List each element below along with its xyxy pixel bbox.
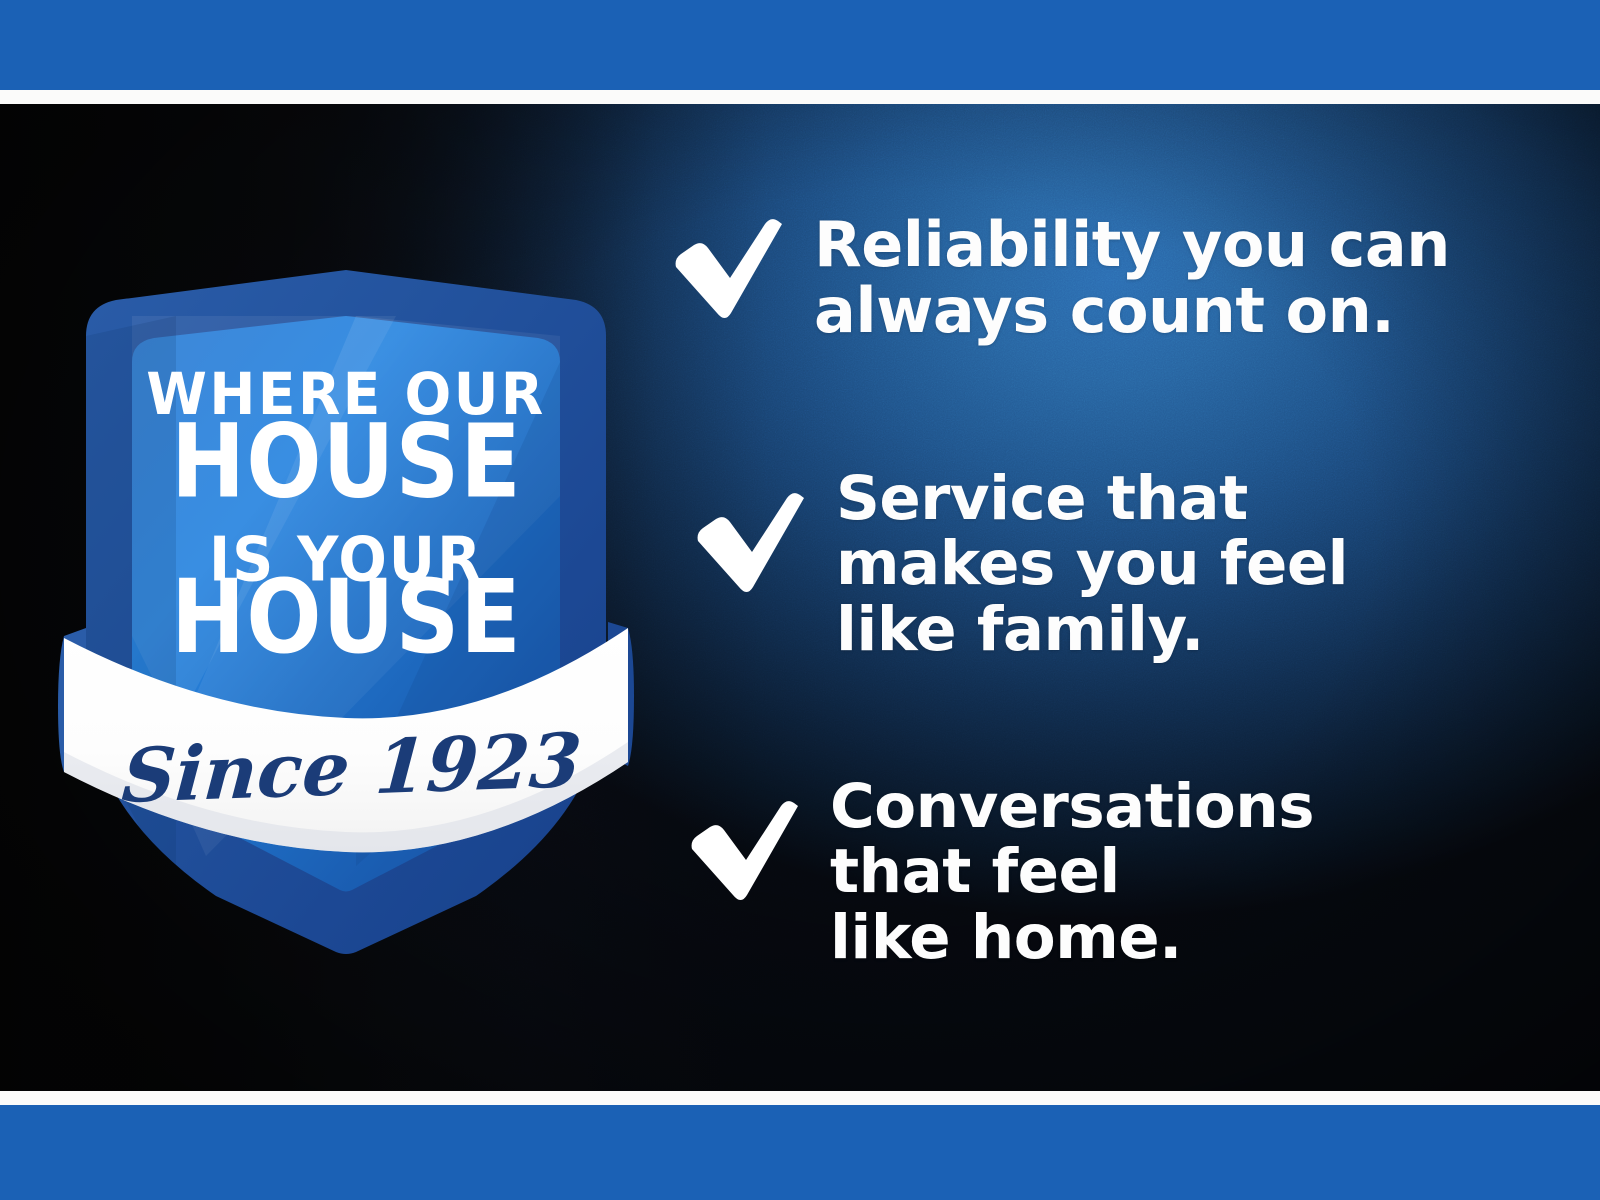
list-item: Reliability you can always count on. bbox=[668, 212, 1450, 345]
top-brand-bar bbox=[0, 0, 1600, 90]
check-icon bbox=[684, 800, 800, 908]
shield-text-block: WHERE OUR HOUSE IS YOUR HOUSE bbox=[146, 361, 545, 677]
shield-logo: WHERE OUR HOUSE IS YOUR HOUSE Since 1923 bbox=[56, 166, 636, 956]
list-item: Service that makes you feel like family. bbox=[690, 466, 1348, 662]
shield-line-2: HOUSE bbox=[171, 404, 522, 521]
bottom-divider-strip bbox=[0, 1091, 1600, 1105]
list-item-label: Reliability you can always count on. bbox=[814, 212, 1450, 345]
list-item-label: Conversations that feel like home. bbox=[830, 774, 1314, 970]
check-icon bbox=[668, 218, 784, 326]
bottom-brand-bar bbox=[0, 1105, 1600, 1200]
promo-banner: WHERE OUR HOUSE IS YOUR HOUSE Since 1923 bbox=[0, 0, 1600, 1200]
list-item: Conversations that feel like home. bbox=[684, 774, 1314, 970]
check-icon bbox=[690, 492, 806, 600]
top-divider-strip bbox=[0, 90, 1600, 104]
shield-line-4: HOUSE bbox=[171, 559, 522, 676]
ribbon-text: Since 1923 bbox=[119, 717, 584, 820]
list-item-label: Service that makes you feel like family. bbox=[836, 466, 1348, 662]
benefits-list: Reliability you can always count on. Ser… bbox=[668, 104, 1548, 1091]
